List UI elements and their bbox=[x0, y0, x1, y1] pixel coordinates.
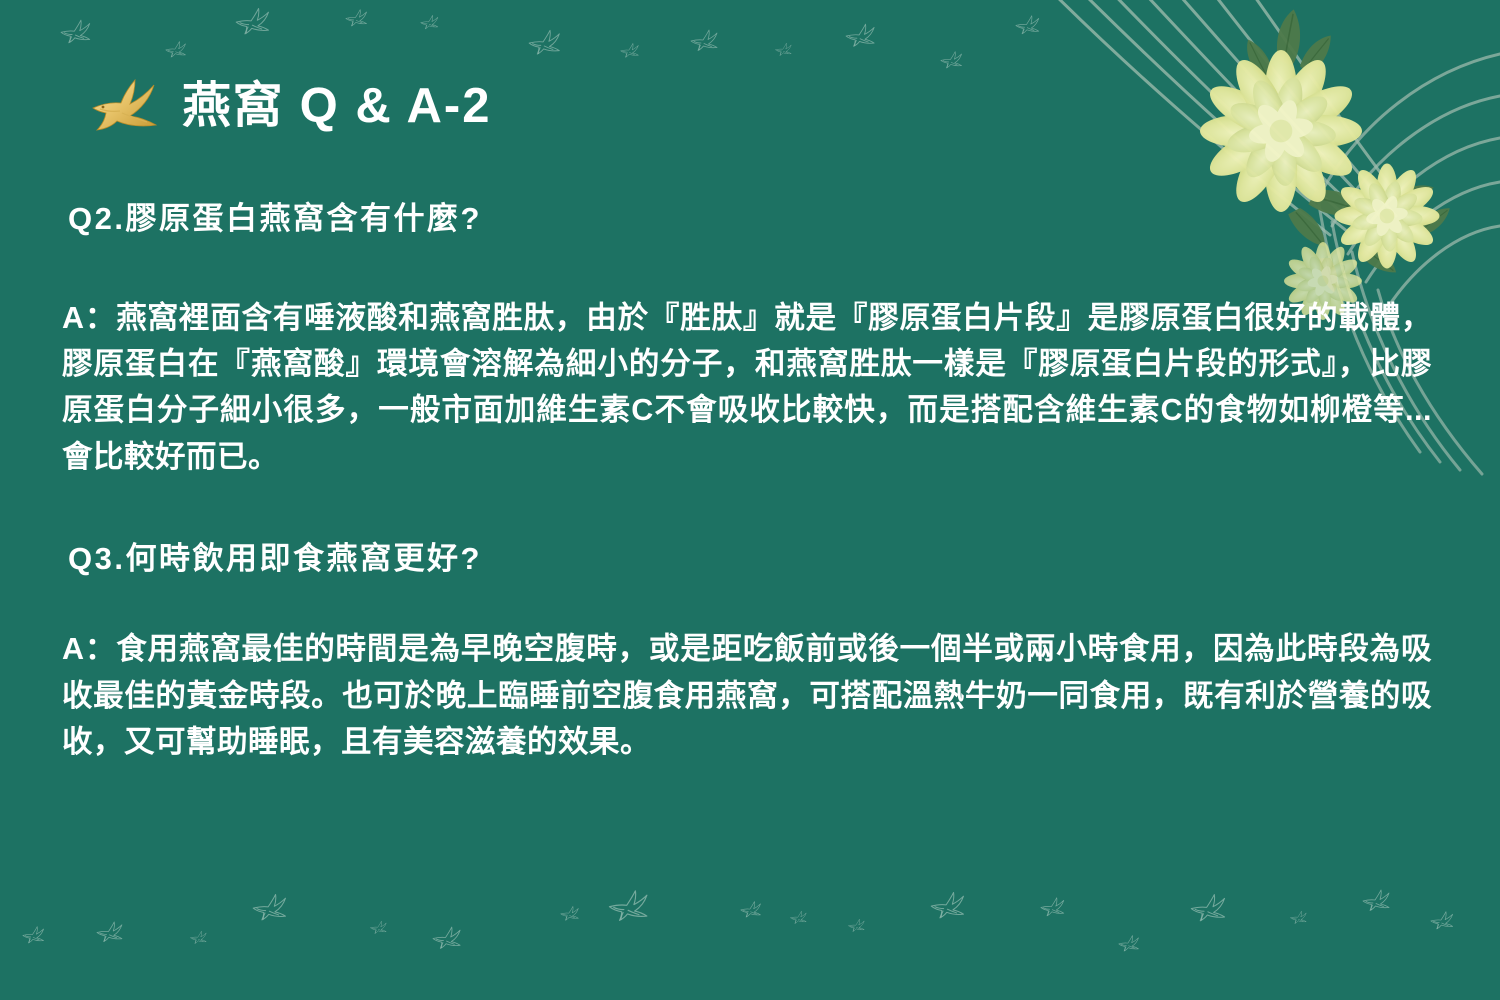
qa-content: Q2.膠原蛋白燕窩含有什麼? A：燕窩裡面含有唾液酸和燕窩胜肽，由於『胜肽』就是… bbox=[62, 196, 1432, 770]
question-q2: Q2.膠原蛋白燕窩含有什麼? bbox=[68, 196, 1432, 243]
answer-q3: A：食用燕窩最佳的時間是為早晚空腹時，或是距吃飯前或後一個半或兩小時食用，因為此… bbox=[62, 626, 1432, 765]
page-title: 燕窩 Q & A-2 bbox=[182, 82, 491, 131]
page-header: 燕窩 Q & A-2 bbox=[88, 78, 491, 134]
answer-q2: A：燕窩裡面含有唾液酸和燕窩胜肽，由於『胜肽』就是『膠原蛋白片段』是膠原蛋白很好… bbox=[62, 295, 1432, 480]
poster-canvas: 燕窩 Q & A-2 Q2.膠原蛋白燕窩含有什麼? A：燕窩裡面含有唾液酸和燕窩… bbox=[0, 0, 1500, 1000]
qa-block-q3: Q3.何時飲用即食燕窩更好? A：食用燕窩最佳的時間是為早晚空腹時，或是距吃飯前… bbox=[62, 536, 1432, 766]
qa-block-q2: Q2.膠原蛋白燕窩含有什麼? A：燕窩裡面含有唾液酸和燕窩胜肽，由於『胜肽』就是… bbox=[62, 196, 1432, 480]
question-q3: Q3.何時飲用即食燕窩更好? bbox=[68, 536, 1432, 583]
gold-swallow-icon bbox=[88, 78, 160, 134]
